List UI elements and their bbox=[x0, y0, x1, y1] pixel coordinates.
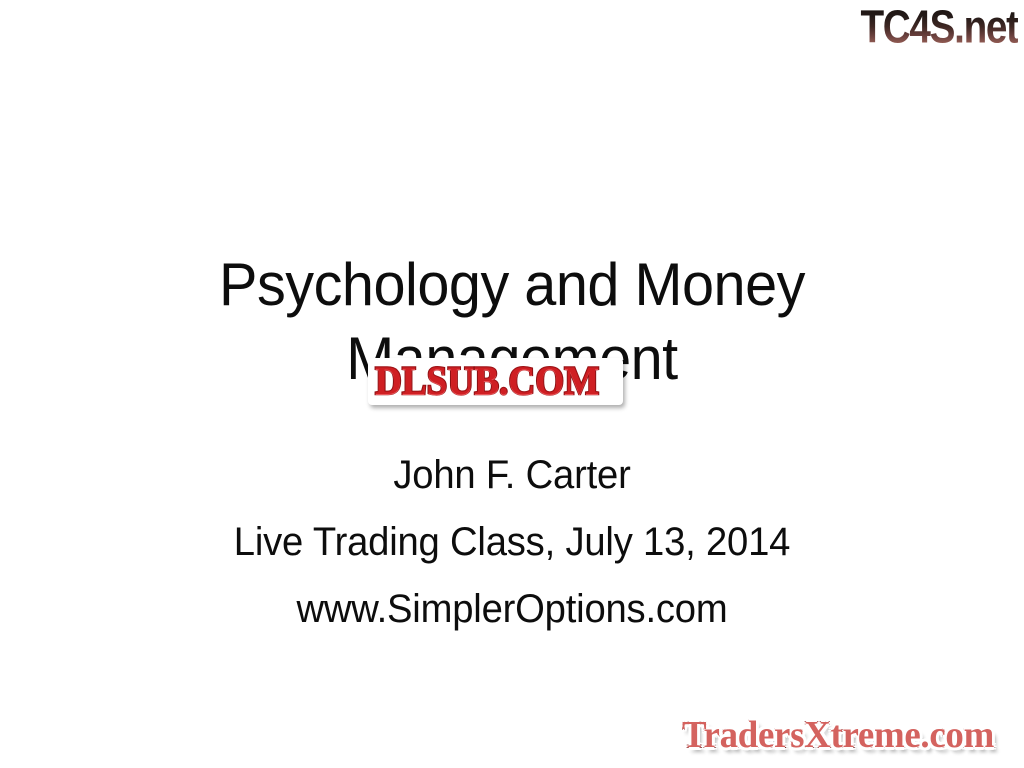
tradersxtreme-watermark-text: TradersXtreme.com bbox=[682, 714, 994, 756]
tc4s-watermark: TC4S.net bbox=[861, 2, 1018, 53]
presentation-slide: TC4S.net Psychology and Money Management… bbox=[0, 0, 1024, 768]
subtitle-presenter: John F. Carter bbox=[23, 442, 1001, 509]
dlsub-watermark: DLSUB.COM bbox=[368, 358, 623, 405]
subtitle-website: www.SimplerOptions.com bbox=[23, 576, 1001, 643]
dlsub-watermark-text: DLSUB.COM bbox=[375, 361, 599, 401]
tradersxtreme-watermark: TradersXtreme.com bbox=[682, 714, 1004, 756]
subtitle-event: Live Trading Class, July 13, 2014 bbox=[23, 509, 1001, 576]
slide-title-line-1: Psychology and Money bbox=[20, 248, 1003, 322]
slide-subtitle: John F. Carter Live Trading Class, July … bbox=[0, 442, 1024, 643]
